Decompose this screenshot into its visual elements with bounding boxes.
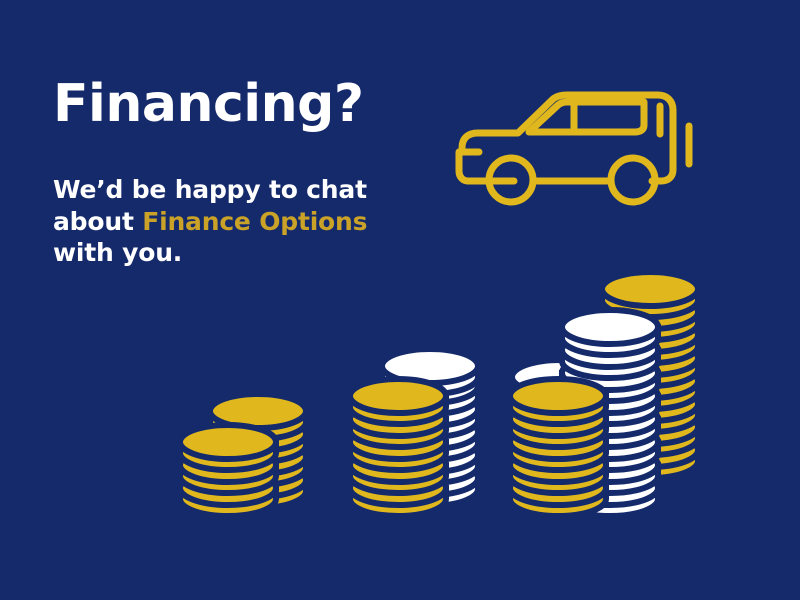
car-illustration [448, 82, 708, 212]
subcopy-line-2-prefix: about [53, 207, 142, 236]
finance-options-highlight: Finance Options [142, 207, 367, 236]
financing-promo-banner: Financing? We’d be happy to chat about F… [0, 0, 800, 600]
text-block: Financing? We’d be happy to chat about F… [53, 78, 413, 269]
subcopy-line-2: about Finance Options [53, 206, 413, 238]
subcopy-line-3: with you. [53, 237, 413, 269]
page-title: Financing? [53, 78, 413, 130]
coin-stacks-graphic [180, 270, 740, 515]
coin-stack-left-front [180, 425, 276, 516]
subcopy: We’d be happy to chat about Finance Opti… [53, 174, 413, 269]
coin-stack-middle-front [350, 379, 446, 516]
coin-stack-right [510, 272, 698, 516]
coin-stack-middle [350, 349, 478, 516]
coin-stacks-illustration [180, 270, 740, 515]
car-rear-wheel [611, 158, 655, 202]
coin-stack-left [180, 394, 306, 516]
subcopy-line-1: We’d be happy to chat [53, 174, 413, 206]
suv-side-profile-icon [448, 82, 708, 212]
coin-stack-right-front-gold [510, 379, 606, 516]
